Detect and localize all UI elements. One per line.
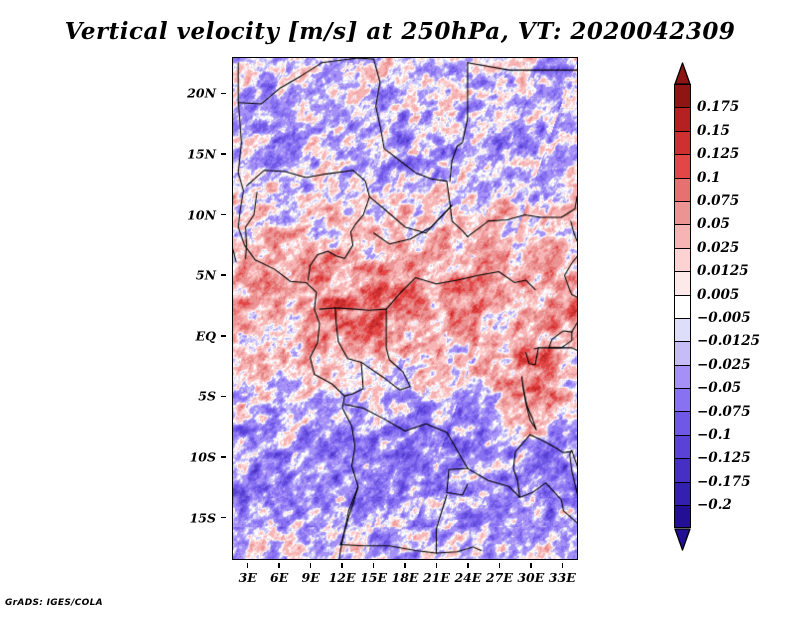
attribution-footer: GrADS: IGES/COLA bbox=[5, 598, 103, 608]
longitude-tick-label: 18E bbox=[392, 570, 419, 585]
colorbar-tick-label: 0.1 bbox=[697, 170, 721, 186]
map-plot-area bbox=[232, 57, 578, 560]
colorbar-swatch bbox=[674, 435, 691, 458]
latitude-tick-label: 10N bbox=[187, 207, 216, 222]
latitude-tick-label: 5S bbox=[198, 389, 216, 404]
colorbar-swatch bbox=[674, 84, 691, 107]
latitude-tick-label: EQ bbox=[196, 328, 216, 343]
latitude-tick-label: 5N bbox=[196, 268, 216, 283]
colorbar-swatch bbox=[674, 482, 691, 505]
longitude-tick-label: 12E bbox=[329, 570, 356, 585]
colorbar-swatch bbox=[674, 318, 691, 341]
longitude-tick-label: 27E bbox=[486, 570, 513, 585]
colorbar-swatch bbox=[674, 341, 691, 364]
longitude-tick-mark bbox=[341, 563, 343, 568]
colorbar-swatch bbox=[674, 154, 691, 177]
colorbar-tick-label: −0.125 bbox=[697, 450, 751, 466]
colorbar-swatch bbox=[674, 131, 691, 154]
latitude-tick-mark bbox=[221, 153, 226, 155]
colorbar-swatch bbox=[674, 271, 691, 294]
grads-plot-page: Vertical velocity [m/s] at 250hPa, VT: 2… bbox=[0, 0, 800, 618]
latitude-axis: 20N15N10N5NEQ5S10S15S bbox=[188, 57, 226, 560]
latitude-tick-mark bbox=[221, 214, 226, 216]
latitude-tick-label: 10S bbox=[190, 449, 216, 464]
colorbar-swatch bbox=[674, 365, 691, 388]
colorbar-tick-label: −0.05 bbox=[697, 380, 741, 396]
longitude-tick-mark bbox=[562, 563, 564, 568]
colorbar-extend-max-icon bbox=[674, 62, 691, 85]
latitude-tick-label: 20N bbox=[187, 86, 216, 101]
colorbar-tick-label: 0.005 bbox=[697, 287, 739, 303]
colorbar-extend-min-icon bbox=[674, 528, 691, 551]
page-title: Vertical velocity [m/s] at 250hPa, VT: 2… bbox=[0, 18, 800, 45]
longitude-tick-label: 15E bbox=[360, 570, 387, 585]
longitude-tick-mark bbox=[530, 563, 532, 568]
longitude-tick-mark bbox=[467, 563, 469, 568]
longitude-tick-label: 33E bbox=[549, 570, 576, 585]
colorbar-tick-label: −0.025 bbox=[697, 357, 751, 373]
latitude-tick-mark bbox=[221, 517, 226, 519]
vertical-velocity-field bbox=[233, 58, 577, 559]
longitude-tick-mark bbox=[310, 563, 312, 568]
colorbar-tick-label: 0.075 bbox=[697, 193, 739, 209]
longitude-tick-mark bbox=[247, 563, 249, 568]
longitude-tick-label: 21E bbox=[423, 570, 450, 585]
longitude-tick-label: 24E bbox=[454, 570, 481, 585]
colorbar-swatch bbox=[674, 224, 691, 247]
colorbar-tick-label: −0.1 bbox=[697, 427, 732, 443]
longitude-tick-mark bbox=[499, 563, 501, 568]
colorbar-swatch bbox=[674, 458, 691, 481]
latitude-tick-label: 15N bbox=[187, 146, 216, 161]
colorbar-swatch bbox=[674, 178, 691, 201]
colorbar-tick-label: −0.175 bbox=[697, 474, 751, 490]
longitude-tick-mark bbox=[373, 563, 375, 568]
colorbar-tick-label: 0.15 bbox=[697, 123, 730, 139]
colorbar-tick-label: 0.175 bbox=[697, 99, 739, 115]
longitude-tick-label: 6E bbox=[270, 570, 288, 585]
latitude-tick-mark bbox=[221, 93, 226, 95]
latitude-tick-mark bbox=[221, 335, 226, 337]
colorbar-tick-label: −0.0125 bbox=[697, 333, 760, 349]
longitude-tick-mark bbox=[278, 563, 280, 568]
colorbar-tick-label: 0.0125 bbox=[697, 263, 749, 279]
colorbar: 0.1750.150.1250.10.0750.050.0250.01250.0… bbox=[674, 62, 794, 554]
longitude-tick-label: 3E bbox=[239, 570, 257, 585]
longitude-tick-mark bbox=[436, 563, 438, 568]
colorbar-tick-label: 0.05 bbox=[697, 216, 730, 232]
colorbar-swatch bbox=[674, 107, 691, 130]
latitude-tick-mark bbox=[221, 456, 226, 458]
colorbar-swatch bbox=[674, 411, 691, 434]
colorbar-tick-label: −0.075 bbox=[697, 404, 751, 420]
colorbar-swatch bbox=[674, 388, 691, 411]
latitude-tick-label: 15S bbox=[190, 510, 216, 525]
longitude-tick-mark bbox=[404, 563, 406, 568]
colorbar-swatch bbox=[674, 201, 691, 224]
longitude-axis: 3E6E9E12E15E18E21E24E27E30E33E bbox=[232, 563, 578, 583]
latitude-tick-mark bbox=[221, 274, 226, 276]
longitude-tick-label: 30E bbox=[517, 570, 544, 585]
longitude-tick-label: 9E bbox=[302, 570, 320, 585]
colorbar-swatches bbox=[674, 84, 691, 528]
colorbar-tick-label: −0.005 bbox=[697, 310, 751, 326]
colorbar-swatch bbox=[674, 248, 691, 271]
colorbar-tick-label: 0.025 bbox=[697, 240, 739, 256]
colorbar-swatch bbox=[674, 295, 691, 318]
colorbar-tick-label: −0.2 bbox=[697, 497, 732, 513]
colorbar-tick-label: 0.125 bbox=[697, 146, 739, 162]
colorbar-swatch bbox=[674, 505, 691, 528]
latitude-tick-mark bbox=[221, 396, 226, 398]
